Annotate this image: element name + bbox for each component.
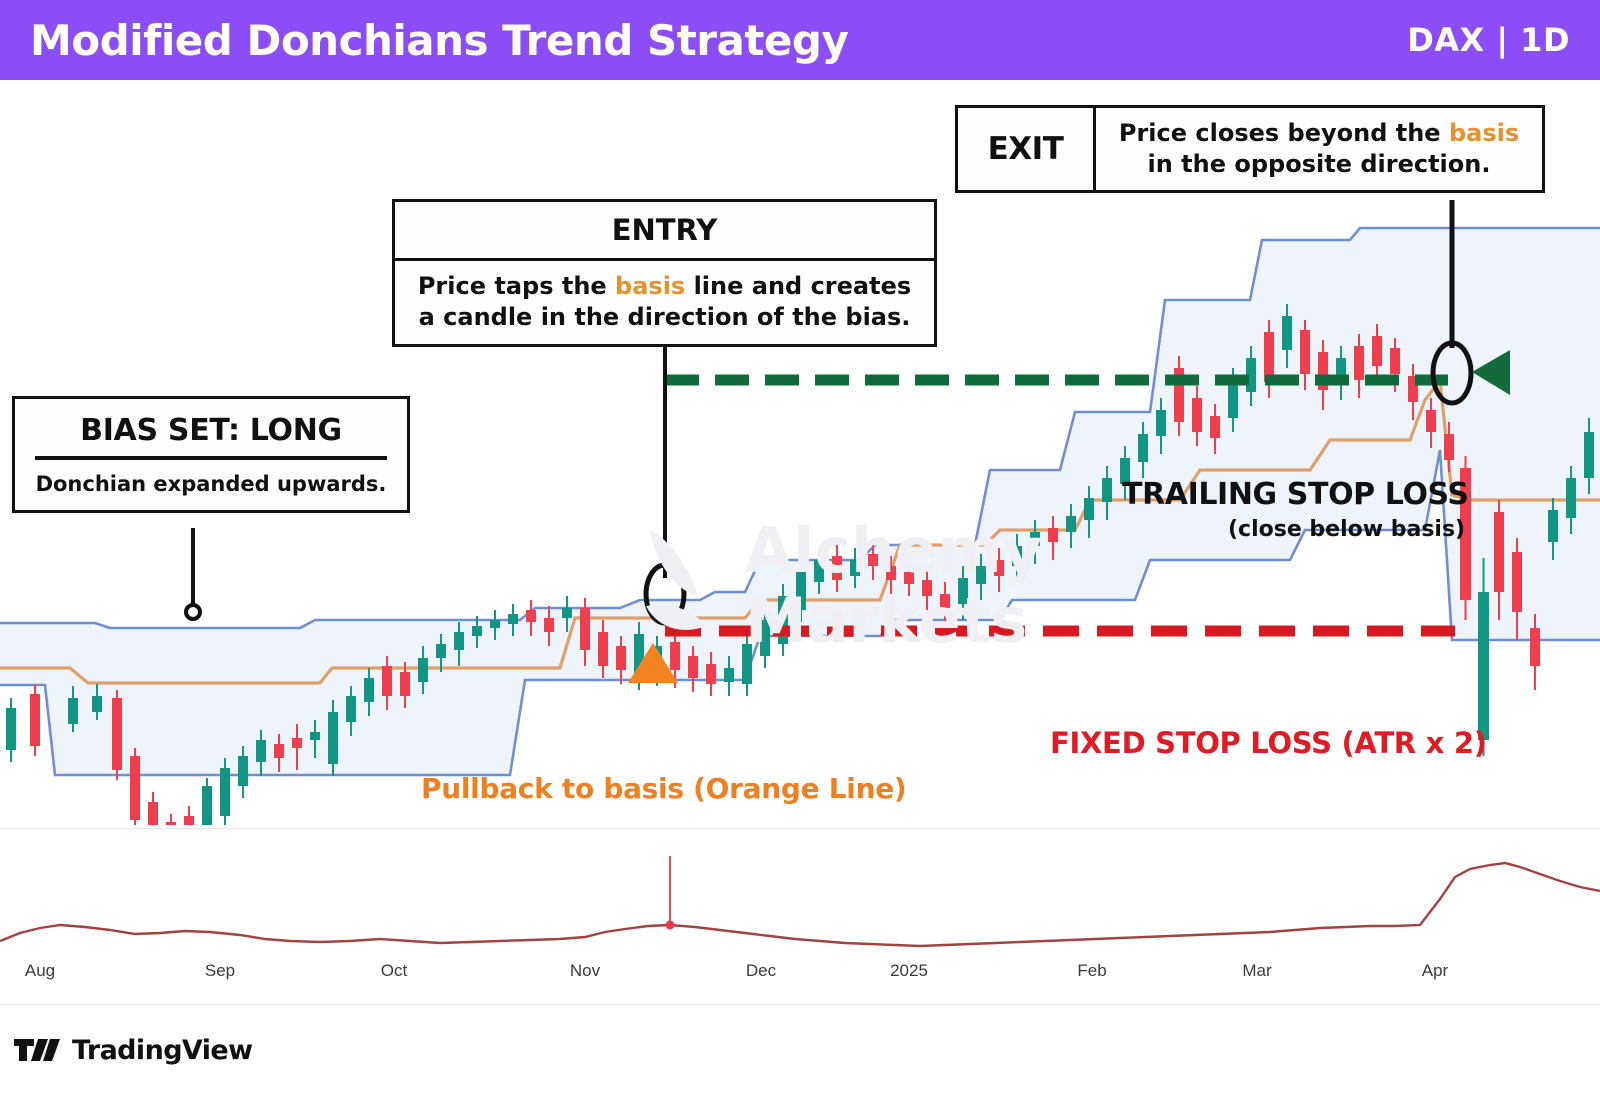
exit-callout-box: EXIT Price closes beyond the basis in th… xyxy=(955,105,1545,193)
entry-callout-title: ENTRY xyxy=(395,202,934,258)
page-footer: TradingView xyxy=(0,1004,1600,1095)
axis-tick-6: Feb xyxy=(1077,961,1106,981)
atr-line-series xyxy=(0,863,1600,946)
screenshot-root: Modified Donchians Trend Strategy DAX | … xyxy=(0,0,1600,1095)
exit-callout-label-cell: EXIT xyxy=(958,108,1096,190)
exit-callout-label: EXIT xyxy=(988,131,1064,167)
exit-callout-body: Price closes beyond the basis in the opp… xyxy=(1119,118,1519,180)
axis-tick-7: Mar xyxy=(1242,961,1271,981)
tradingview-logo[interactable]: TradingView xyxy=(14,1035,252,1066)
axis-tick-1: Sep xyxy=(205,961,235,981)
entry-callout-box: ENTRY Price taps the basis line and crea… xyxy=(392,199,937,347)
entry-callout-body: Price taps the basis line and creates a … xyxy=(395,261,934,344)
bias-callout-title: BIAS SET: LONG xyxy=(15,399,407,456)
page-header: Modified Donchians Trend Strategy DAX | … xyxy=(0,0,1600,80)
entry-body-basis-highlight: basis xyxy=(615,272,685,300)
tradingview-wordmark: TradingView xyxy=(72,1035,252,1066)
time-axis[interactable]: Aug Sep Oct Nov Dec 2025 Feb Mar Apr xyxy=(0,958,1600,1002)
axis-tick-0: Aug xyxy=(25,961,55,981)
axis-tick-2: Oct xyxy=(381,961,407,981)
tradingview-mark-icon xyxy=(14,1037,60,1063)
bias-anchor-dot xyxy=(186,605,200,619)
axis-tick-4: Dec xyxy=(746,961,776,981)
bias-callout-subtitle: Donchian expanded upwards. xyxy=(15,460,407,510)
entry-body-pre: Price taps the xyxy=(418,272,615,300)
pullback-label: Pullback to basis (Orange Line) xyxy=(421,772,906,805)
axis-tick-5: 2025 xyxy=(890,961,928,981)
exit-callout-body-cell: Price closes beyond the basis in the opp… xyxy=(1096,108,1542,190)
entry-body-line2: a candle in the direction of the bias. xyxy=(419,303,911,331)
trailing-stop-label: TRAILING STOP LOSS xyxy=(1122,477,1469,512)
axis-tick-3: Nov xyxy=(570,961,600,981)
axis-tick-8: Apr xyxy=(1422,961,1448,981)
page-title: Modified Donchians Trend Strategy xyxy=(30,16,848,65)
symbol-timeframe-label: DAX | 1D xyxy=(1407,21,1570,59)
atr-chart-svg xyxy=(0,829,1600,963)
atr-value-dot xyxy=(666,921,675,930)
exit-body-pre: Price closes beyond the xyxy=(1119,119,1449,147)
entry-body-post: line and creates xyxy=(685,272,911,300)
fixed-stop-label: FIXED STOP LOSS (ATR x 2) xyxy=(1050,726,1487,760)
exit-body-basis-highlight: basis xyxy=(1449,119,1519,147)
exit-body-line2: in the opposite direction. xyxy=(1148,150,1491,178)
trailing-stop-sublabel: (close below basis) xyxy=(1228,517,1465,542)
bias-callout-box: BIAS SET: LONG Donchian expanded upwards… xyxy=(12,396,410,513)
atr-indicator-panel[interactable]: ATR (20) 252.04 xyxy=(0,828,1600,963)
